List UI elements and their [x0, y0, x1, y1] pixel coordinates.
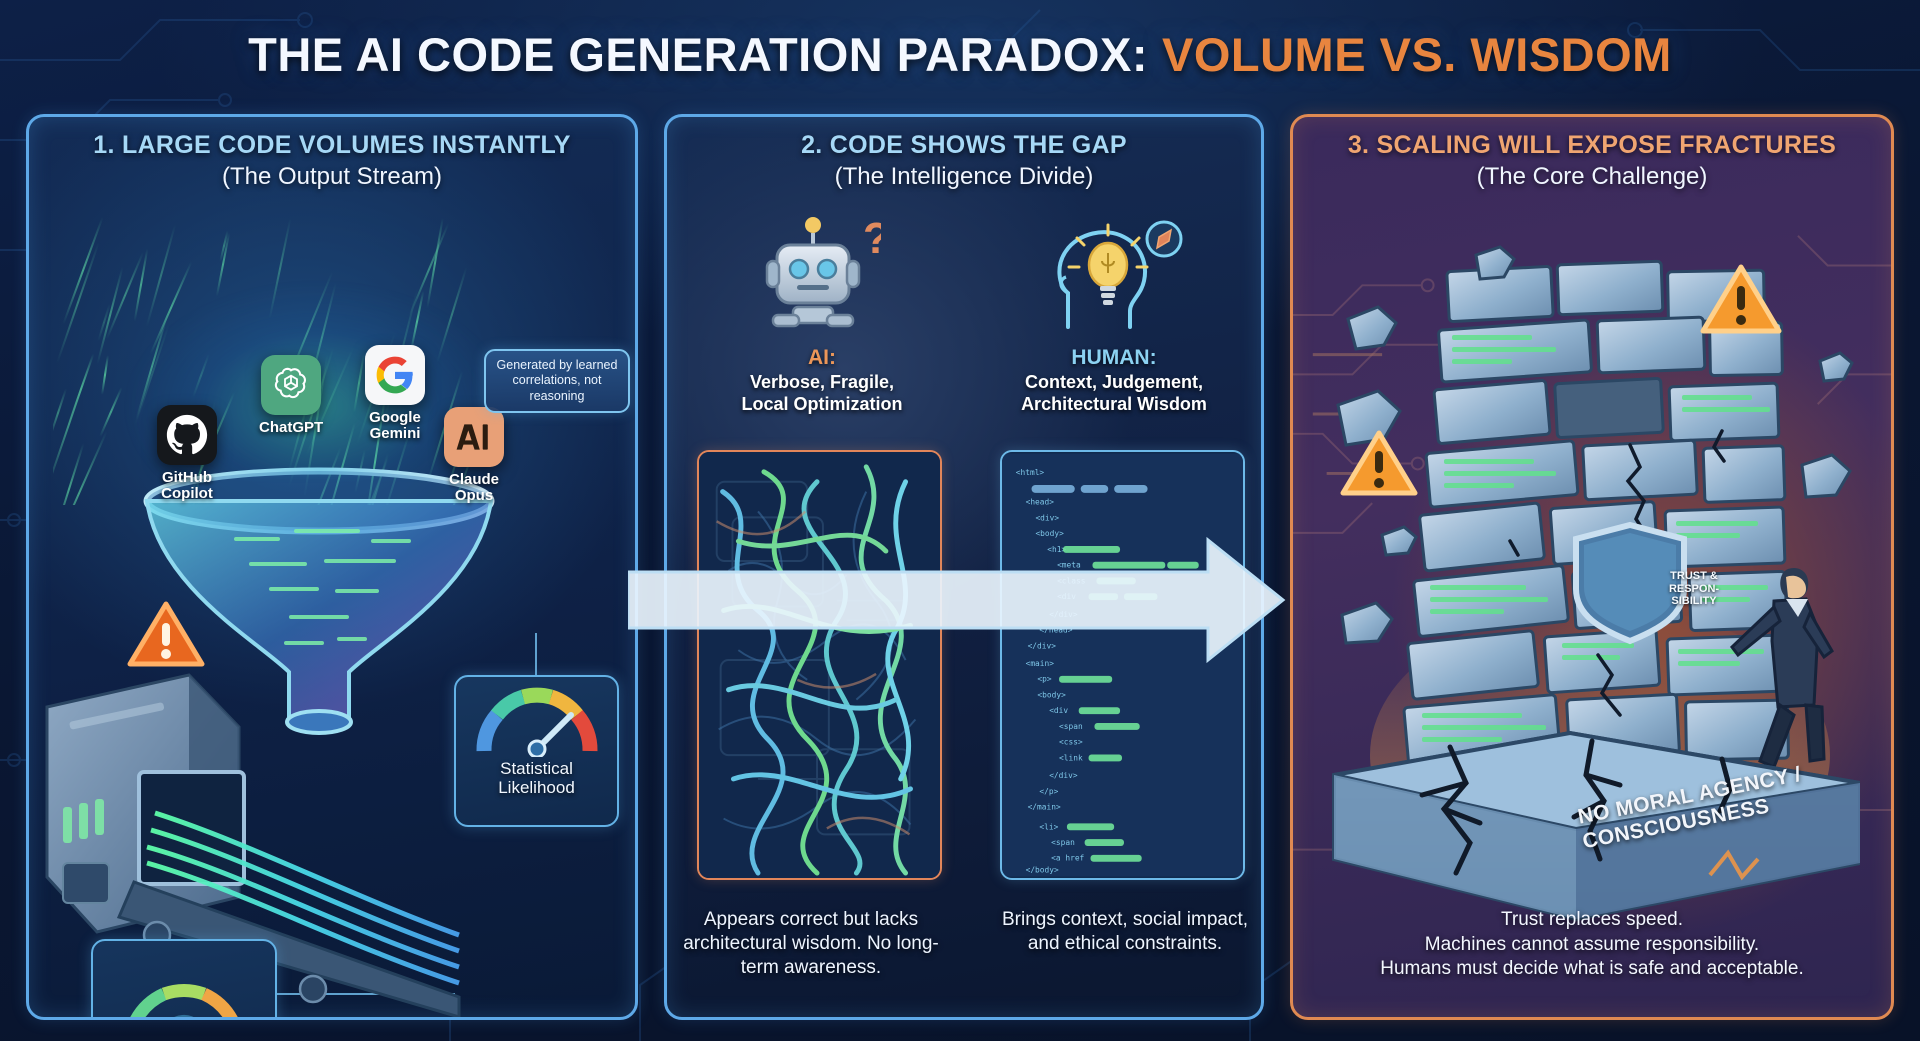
- shield-label: TRUST &RESPON-SIBILITY: [1642, 528, 1746, 646]
- panel-1-heading: 1. LARGE CODE VOLUMES INSTANTLY: [29, 131, 635, 160]
- tangled-wires-icon: [699, 452, 940, 878]
- svg-text:<p>: <p>: [1037, 675, 1051, 684]
- panel-1-subheading: (The Output Stream): [29, 163, 635, 191]
- svg-text:?: ?: [863, 215, 881, 263]
- logo-google-gemini[interactable]: GoogleGemini: [365, 345, 425, 442]
- svg-text:<span: <span: [1051, 838, 1075, 847]
- svg-text:<div: <div: [1057, 592, 1076, 601]
- warning-triangle-icon: [1340, 428, 1418, 498]
- brain-gauge-card: [91, 939, 277, 1020]
- github-icon: [157, 405, 217, 465]
- svg-text:<div>: <div>: [1035, 513, 1059, 522]
- panel-2-header: 2. CODE SHOWS THE GAP (The Intelligence …: [667, 131, 1261, 191]
- svg-text:<html>: <html>: [1016, 468, 1045, 477]
- structured-html-code-panel: <html> <head> <div> <body> <h1> <meta <c…: [1000, 450, 1245, 880]
- human-caption: Brings context, social impact, and ethic…: [1000, 908, 1250, 956]
- trust-responsibility-shield: TRUST &RESPON-SIBILITY: [1642, 528, 1746, 646]
- svg-text:<body>: <body>: [1035, 529, 1064, 538]
- logo-claude-opus[interactable]: ClaudeOpus: [444, 407, 504, 504]
- human-side: HUMAN: Context, Judgement,Architectural …: [979, 215, 1249, 415]
- svg-text:<css>: <css>: [1059, 738, 1083, 747]
- openai-icon: [261, 355, 321, 415]
- connector-line-gauge: [535, 633, 537, 677]
- warning-triangle-icon: [1700, 262, 1782, 336]
- ai-description: Verbose, Fragile,Local Optimization: [687, 372, 957, 415]
- svg-text:<main>: <main>: [1026, 659, 1055, 668]
- panel-3-caption: Trust replaces speed.Machines cannot ass…: [1302, 908, 1882, 982]
- svg-text:</div>: </div>: [1028, 641, 1057, 650]
- ai-label: AI:: [687, 346, 957, 370]
- logo-github-copilot[interactable]: GitHubCopilot: [157, 405, 217, 502]
- logo-label: GitHubCopilot: [157, 470, 217, 502]
- panel-2-heading: 2. CODE SHOWS THE GAP: [667, 131, 1261, 160]
- svg-text:<span: <span: [1059, 722, 1083, 731]
- human-label: HUMAN:: [979, 346, 1249, 370]
- logo-label: GoogleGemini: [365, 410, 425, 442]
- svg-text:</main>: </main>: [1028, 803, 1061, 812]
- panel-3-header: 3. SCALING WILL EXPOSE FRACTURES (The Co…: [1293, 131, 1891, 191]
- panel-1-header: 1. LARGE CODE VOLUMES INSTANTLY (The Out…: [29, 131, 635, 191]
- panel-3-heading: 3. SCALING WILL EXPOSE FRACTURES: [1293, 131, 1891, 160]
- warning-triangle-icon: [127, 599, 205, 669]
- panel-3-subheading: (The Core Challenge): [1293, 163, 1891, 191]
- gauge-label: StatisticalLikelihood: [498, 759, 575, 797]
- logo-chatgpt[interactable]: ChatGPT: [259, 355, 323, 436]
- panel-1-large-code-volumes: 1. LARGE CODE VOLUMES INSTANTLY (The Out…: [26, 114, 638, 1020]
- robot-icon: ?: [763, 215, 881, 341]
- svg-text:<meta: <meta: [1057, 561, 1081, 570]
- svg-text:<head>: <head>: [1026, 498, 1055, 507]
- svg-text:<div: <div: [1049, 706, 1068, 715]
- code-lines-icon: <html> <head> <div> <body> <h1> <meta <c…: [1002, 452, 1243, 878]
- title-main: THE AI CODE GENERATION PARADOX:: [248, 27, 1148, 82]
- svg-text:</p>: </p>: [1039, 787, 1058, 796]
- gauge-icon: [471, 685, 603, 757]
- ai-caption: Appears correct but lacks architectural …: [678, 908, 944, 980]
- svg-text:<li>: <li>: [1039, 822, 1058, 831]
- tangled-spaghetti-code-panel: [697, 450, 942, 880]
- callout-learned-correlations: Generated by learned correlations, not r…: [484, 349, 630, 413]
- infographic-root: THE AI CODE GENERATION PARADOX: VOLUME V…: [0, 0, 1920, 1041]
- svg-text:</div>: </div>: [1049, 771, 1078, 780]
- svg-text:</div>: </div>: [1049, 610, 1078, 619]
- title-accent: VOLUME VS. WISDOM: [1162, 27, 1672, 82]
- human-description: Context, Judgement,Architectural Wisdom: [979, 372, 1249, 415]
- logo-label: ClaudeOpus: [444, 472, 504, 504]
- anthropic-icon: [444, 407, 504, 467]
- head-lightbulb-icon: [1044, 215, 1184, 341]
- svg-text:<link: <link: [1059, 753, 1083, 762]
- brain-gauge-icon: [108, 955, 260, 1020]
- svg-text:</body>: </body>: [1026, 866, 1059, 875]
- svg-text:</head>: </head>: [1039, 626, 1072, 635]
- page-title: THE AI CODE GENERATION PARADOX: VOLUME V…: [0, 14, 1920, 94]
- panel-2-subheading: (The Intelligence Divide): [667, 163, 1261, 191]
- ai-side: ? AI: Verbose, Fragile,Local Optimizatio…: [687, 215, 957, 415]
- svg-text:<class: <class: [1057, 576, 1085, 585]
- google-icon: [365, 345, 425, 405]
- logo-label: ChatGPT: [259, 420, 323, 436]
- statistical-likelihood-card: StatisticalLikelihood: [454, 675, 619, 827]
- svg-text:<a href: <a href: [1051, 854, 1084, 863]
- svg-text:<body>: <body>: [1037, 690, 1066, 699]
